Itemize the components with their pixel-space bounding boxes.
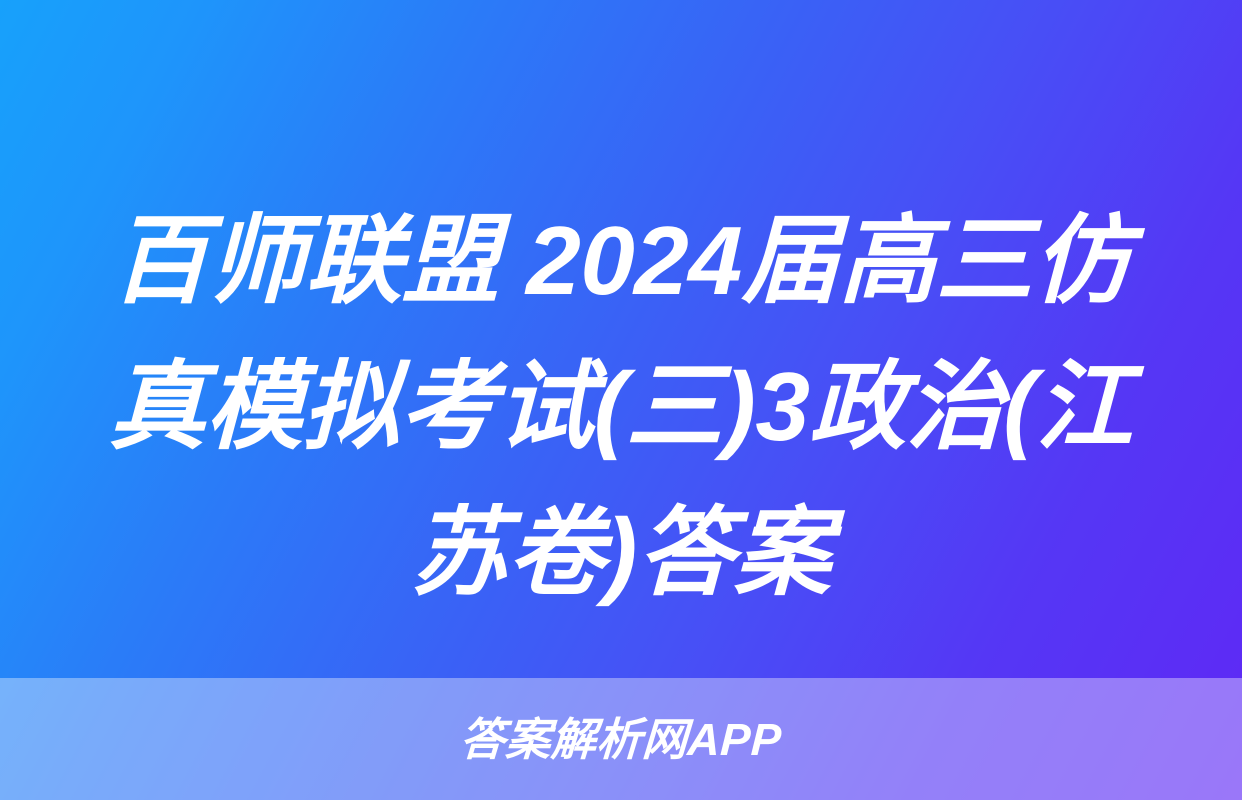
title-line-2: 真模拟考试(三)3政治(江 [69, 334, 1174, 480]
title-line-3: 苏卷)答案 [69, 480, 1174, 626]
poster-canvas: 百师联盟 2024届高三仿 真模拟考试(三)3政治(江 苏卷)答案 答案解析网A… [0, 0, 1242, 800]
page-title: 百师联盟 2024届高三仿 真模拟考试(三)3政治(江 苏卷)答案 [0, 188, 1242, 626]
title-line-1: 百师联盟 2024届高三仿 [69, 188, 1174, 334]
footer-band: 答案解析网APP [0, 678, 1242, 800]
app-brand-label: 答案解析网APP [459, 717, 783, 762]
